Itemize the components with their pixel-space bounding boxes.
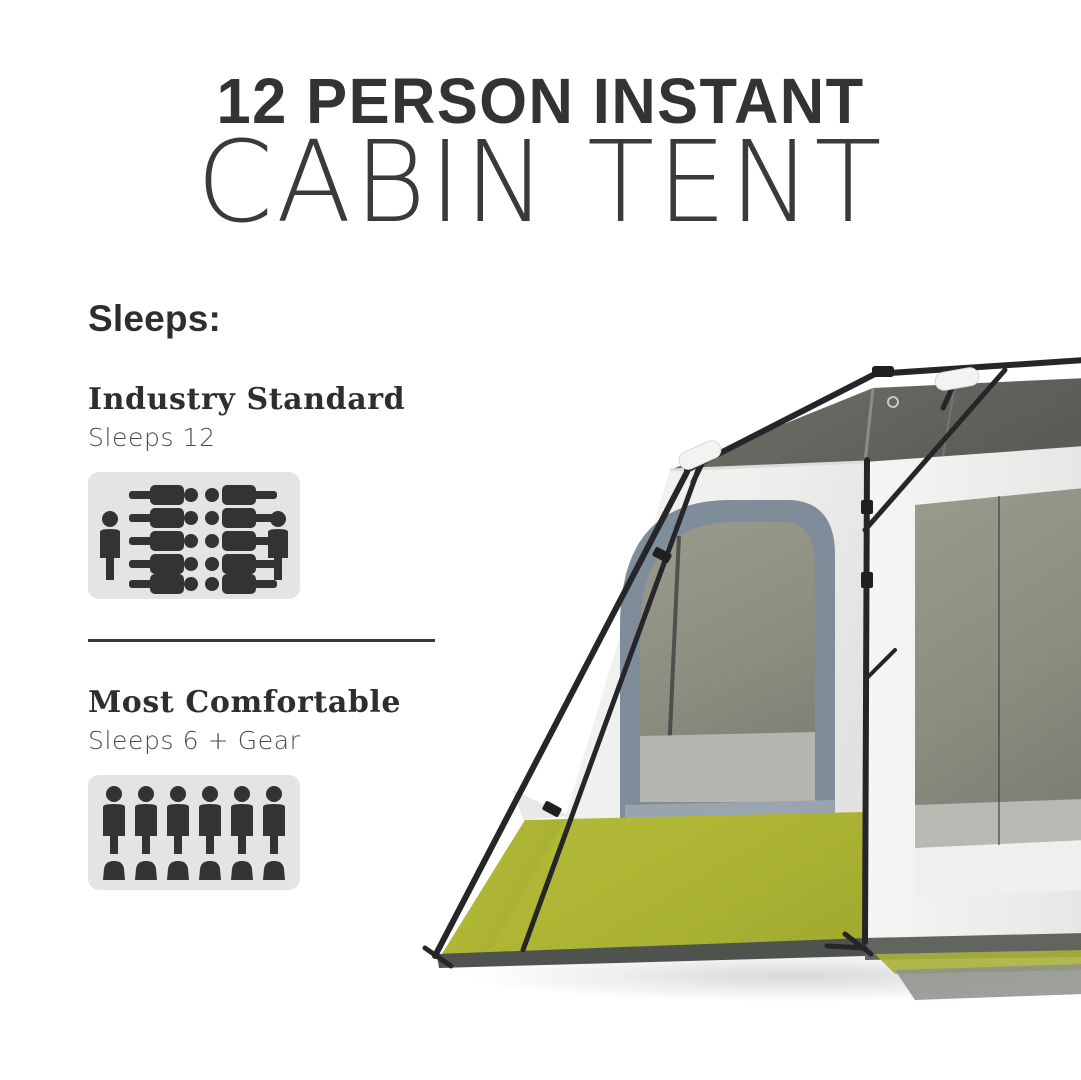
head-right-3 — [205, 534, 219, 548]
head-left-4 — [184, 557, 198, 571]
standing-person-5 — [231, 786, 253, 880]
lying-person-right-5 — [222, 574, 277, 594]
six-people-with-gear-icon — [88, 775, 300, 890]
head-right-5 — [205, 577, 219, 591]
lying-person-left-3 — [129, 531, 184, 551]
pole-joint-right-upper — [861, 572, 873, 588]
tent-illustration — [395, 350, 1081, 1080]
standing-person-4 — [199, 786, 221, 880]
head-left-1 — [184, 488, 198, 502]
tent-graphic — [395, 350, 1081, 1080]
head-right-2 — [205, 511, 219, 525]
tent-right-groundsheet — [895, 964, 1081, 1000]
option-detail-sleeps-12: Sleeps 12 — [88, 425, 488, 450]
product-infographic: 12 PERSON INSTANT CABIN TENT — [0, 0, 1081, 1080]
standing-person-3 — [167, 786, 189, 880]
head-left-3 — [184, 534, 198, 548]
section-divider — [88, 639, 435, 642]
pole-joint-right-mid — [861, 500, 873, 514]
lying-person-right-2 — [222, 508, 277, 528]
head-left-5 — [184, 577, 198, 591]
title-line-cabin-tent: CABIN TENT — [11, 133, 1070, 234]
standing-person-6 — [263, 786, 285, 880]
twelve-people-lying-icon — [88, 472, 300, 599]
standing-person-2 — [135, 786, 157, 880]
standing-person-left — [100, 511, 120, 580]
pole-joint-apex — [872, 366, 894, 377]
lying-person-left-1 — [129, 485, 184, 505]
head-right-4 — [205, 557, 219, 571]
stake-right-strap — [827, 946, 865, 948]
sleeps-heading: Sleeps: — [88, 300, 488, 337]
capacity-option-most-comfortable: Most Comfortable Sleeps 6 + Gear — [88, 688, 488, 890]
lying-person-left-2 — [129, 508, 184, 528]
tent-right-window-sill — [915, 840, 1081, 898]
option-detail-sleeps-6-gear: Sleeps 6 + Gear — [88, 728, 488, 753]
lying-person-left-5 — [129, 574, 184, 594]
lying-person-right-1 — [222, 485, 277, 505]
option-title-industry-standard: Industry Standard — [88, 385, 488, 415]
lying-person-left-4 — [129, 554, 184, 574]
capacity-option-industry-standard: Industry Standard Sleeps 12 — [88, 385, 488, 599]
option-title-most-comfortable: Most Comfortable — [88, 688, 488, 718]
head-left-2 — [184, 511, 198, 525]
page-title: 12 PERSON INSTANT CABIN TENT — [0, 72, 1081, 234]
standing-person-1 — [103, 786, 125, 880]
six-people-with-gear-graphic — [88, 775, 300, 890]
capacity-panel: Sleeps: Industry Standard Sleeps 12 — [88, 300, 488, 890]
tent-door-storage-band — [640, 732, 815, 802]
head-right-1 — [205, 488, 219, 502]
twelve-people-lying-graphic — [88, 472, 300, 599]
